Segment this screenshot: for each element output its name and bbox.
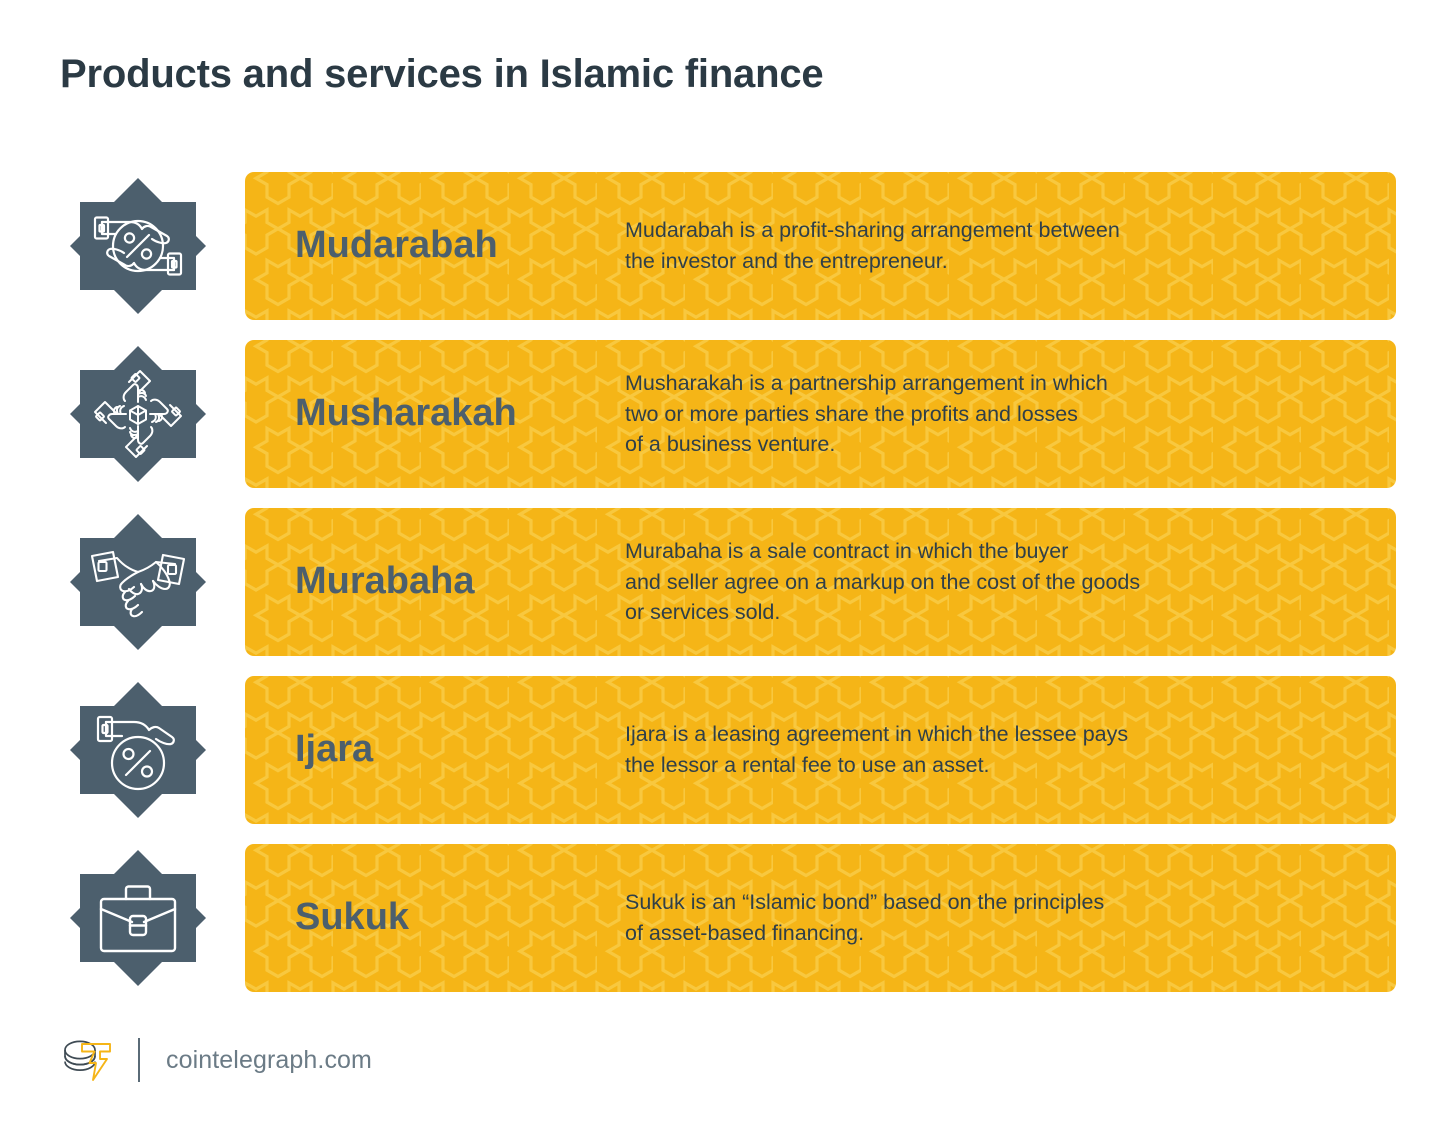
card-musharakah: Musharakah Musharakah is a partnership a…: [245, 340, 1396, 488]
card-title: Murabaha: [245, 562, 625, 602]
card-murabaha: Murabaha Murabaha is a sale contract in …: [245, 508, 1396, 656]
handshake-icon: [68, 512, 208, 652]
card-title: Sukuk: [245, 898, 625, 938]
briefcase-icon: [68, 848, 208, 988]
badge-mudarabah: [68, 176, 208, 316]
card-ijara: Ijara Ijara is a leasing agreement in wh…: [245, 676, 1396, 824]
footer-divider: [138, 1038, 140, 1082]
card-description: Ijara is a leasing agreement in which th…: [625, 719, 1396, 780]
page-title: Products and services in Islamic finance: [60, 52, 823, 96]
hand-holding-percent-coin-icon: [68, 680, 208, 820]
card-sukuk: Sukuk Sukuk is an “Islamic bond” based o…: [245, 844, 1396, 992]
footer: cointelegraph.com: [60, 1032, 372, 1088]
cointelegraph-logo-icon: [60, 1036, 116, 1084]
card-title: Mudarabah: [245, 226, 625, 266]
four-hands-pointing-cube-icon: [68, 344, 208, 484]
list-item: Sukuk Sukuk is an “Islamic bond” based o…: [0, 844, 1450, 992]
card-description: Murabaha is a sale contract in which the…: [625, 536, 1396, 628]
list-item: Murabaha Murabaha is a sale contract in …: [0, 508, 1450, 656]
hands-exchanging-percent-icon: [68, 176, 208, 316]
card-description: Musharakah is a partnership arrangement …: [625, 368, 1396, 460]
card-title: Musharakah: [245, 394, 625, 434]
card-description: Mudarabah is a profit-sharing arrangemen…: [625, 215, 1396, 276]
list-item: Mudarabah Mudarabah is a profit-sharing …: [0, 172, 1450, 320]
items-list: Mudarabah Mudarabah is a profit-sharing …: [0, 172, 1450, 1012]
badge-ijara: [68, 680, 208, 820]
footer-site-label: cointelegraph.com: [166, 1046, 372, 1075]
card-mudarabah: Mudarabah Mudarabah is a profit-sharing …: [245, 172, 1396, 320]
list-item: Musharakah Musharakah is a partnership a…: [0, 340, 1450, 488]
card-description: Sukuk is an “Islamic bond” based on the …: [625, 887, 1396, 948]
infographic-canvas: Products and services in Islamic finance: [0, 0, 1450, 1139]
badge-musharakah: [68, 344, 208, 484]
list-item: Ijara Ijara is a leasing agreement in wh…: [0, 676, 1450, 824]
badge-sukuk: [68, 848, 208, 988]
card-title: Ijara: [245, 730, 625, 770]
badge-murabaha: [68, 512, 208, 652]
